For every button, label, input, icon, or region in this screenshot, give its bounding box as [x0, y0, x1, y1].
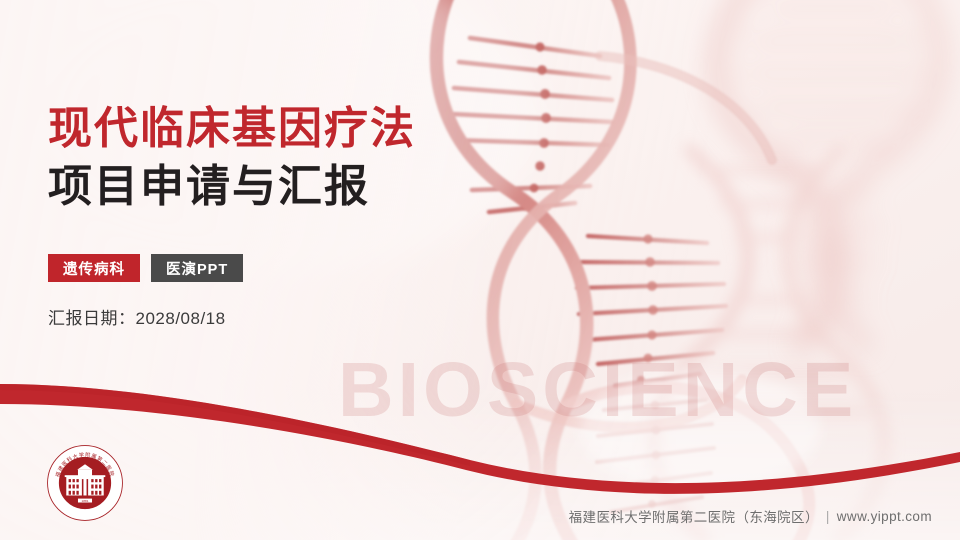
logo-year: 1881 [82, 499, 89, 503]
report-date: 汇报日期：2028/08/18 [48, 304, 416, 329]
footer-organization: 福建医科大学附属第二医院（东海院区） [569, 506, 819, 526]
badge-group: 遗传病科 医演PPT [48, 254, 416, 282]
footer-separator: | [826, 509, 830, 524]
title-content-block: 现代临床基因疗法 项目申请与汇报 遗传病科 医演PPT 汇报日期：2028/08… [48, 104, 416, 329]
bioscience-watermark: BIOSCIENCE [338, 352, 857, 429]
title-slide: BIOSCIENCE 现代临床基因疗法 项目申请与汇报 遗传病科 医演PPT 汇… [0, 0, 960, 540]
title-line-1: 现代临床基因疗法 [48, 104, 416, 154]
badge-department[interactable]: 遗传病科 [48, 254, 140, 282]
badge-template[interactable]: 医演PPT [151, 254, 243, 282]
footer: 福建医科大学附属第二医院（东海院区） | www.yippt.com [569, 506, 932, 526]
footer-website[interactable]: www.yippt.com [837, 509, 932, 524]
title-line-2: 项目申请与汇报 [48, 162, 416, 212]
hospital-logo: 福建医科大学附属第二医院 The Second Affiliated Hospi… [46, 444, 124, 522]
